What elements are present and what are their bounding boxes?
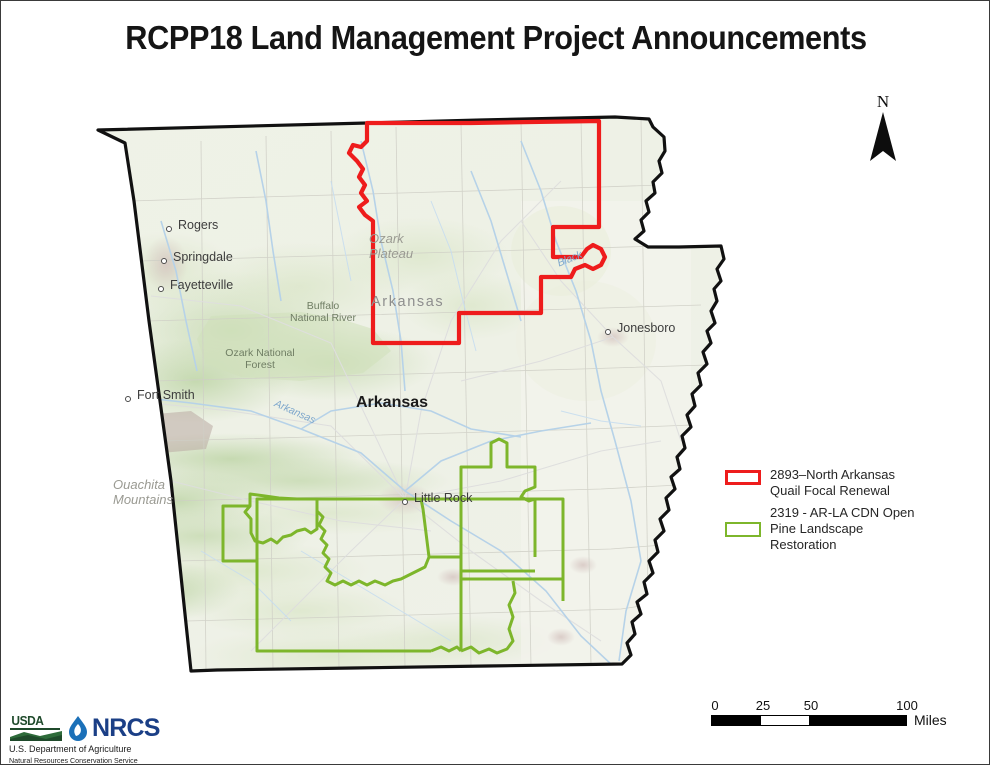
map-viewport[interactable]: RogersSpringdaleFayettevilleFort SmithLi… [1, 81, 990, 701]
legend-swatch-red [725, 470, 761, 485]
scale-tick-25: 25 [756, 698, 770, 713]
usda-nrcs-logo: USDA NRCS U.S. Department of Agriculture… [9, 711, 239, 765]
city-marker-springdale [161, 258, 167, 264]
scale-segment-2 [761, 716, 810, 725]
scale-tick-50: 50 [804, 698, 818, 713]
north-arrow-label: N [863, 93, 903, 111]
scale-segment-3 [809, 716, 906, 725]
north-arrow: N [863, 93, 903, 168]
usda-hills-icon [10, 730, 62, 741]
city-marker-fayetteville [158, 286, 164, 292]
city-marker-little-rock [402, 499, 408, 505]
legend-label-2893: 2893–North Arkansas Quail Focal Renewal [770, 467, 895, 499]
page-title: RCPP18 Land Management Project Announcem… [36, 19, 957, 57]
scale-segment-1 [712, 716, 761, 725]
legend-label-2893-line1: 2893–North Arkansas [770, 467, 895, 483]
scale-bar-units: Miles [914, 712, 947, 728]
legend-label-2319-line1: 2319 - AR-LA CDN Open [770, 505, 915, 521]
logo-subtitle-department: U.S. Department of Agriculture [9, 744, 228, 755]
legend-label-2893-line2: Quail Focal Renewal [770, 483, 895, 499]
scale-bar: 0 25 50 100 Miles [711, 698, 976, 726]
legend-label-2319-line3: Restoration [770, 537, 915, 553]
legend-swatch-green [725, 522, 761, 537]
nrcs-wordmark: NRCS [92, 715, 160, 741]
scale-tick-100: 100 [896, 698, 918, 713]
basemap-terrain [1, 81, 990, 701]
city-marker-fort-smith [125, 396, 131, 402]
legend-item-2893[interactable]: 2893–North Arkansas Quail Focal Renewal [725, 467, 965, 499]
city-marker-jonesboro [605, 329, 611, 335]
legend-label-2319: 2319 - AR-LA CDN Open Pine Landscape Res… [770, 505, 915, 553]
scale-bar-graphic [711, 715, 907, 726]
legend-item-2319[interactable]: 2319 - AR-LA CDN Open Pine Landscape Res… [725, 505, 965, 553]
map-page: RCPP18 Land Management Project Announcem… [0, 0, 990, 765]
city-marker-rogers [166, 226, 172, 232]
logo-subtitle-service: Natural Resources Conservation Service [9, 756, 228, 765]
legend-label-2319-line2: Pine Landscape [770, 521, 915, 537]
usda-logo-icon: USDA [9, 713, 65, 741]
north-arrow-icon [866, 111, 900, 163]
map-graphic [1, 81, 990, 701]
scale-tick-0: 0 [711, 698, 718, 713]
water-drop-leaf-icon [67, 715, 89, 741]
usda-wordmark: USDA [11, 713, 43, 728]
legend: 2893–North Arkansas Quail Focal Renewal … [725, 467, 965, 559]
